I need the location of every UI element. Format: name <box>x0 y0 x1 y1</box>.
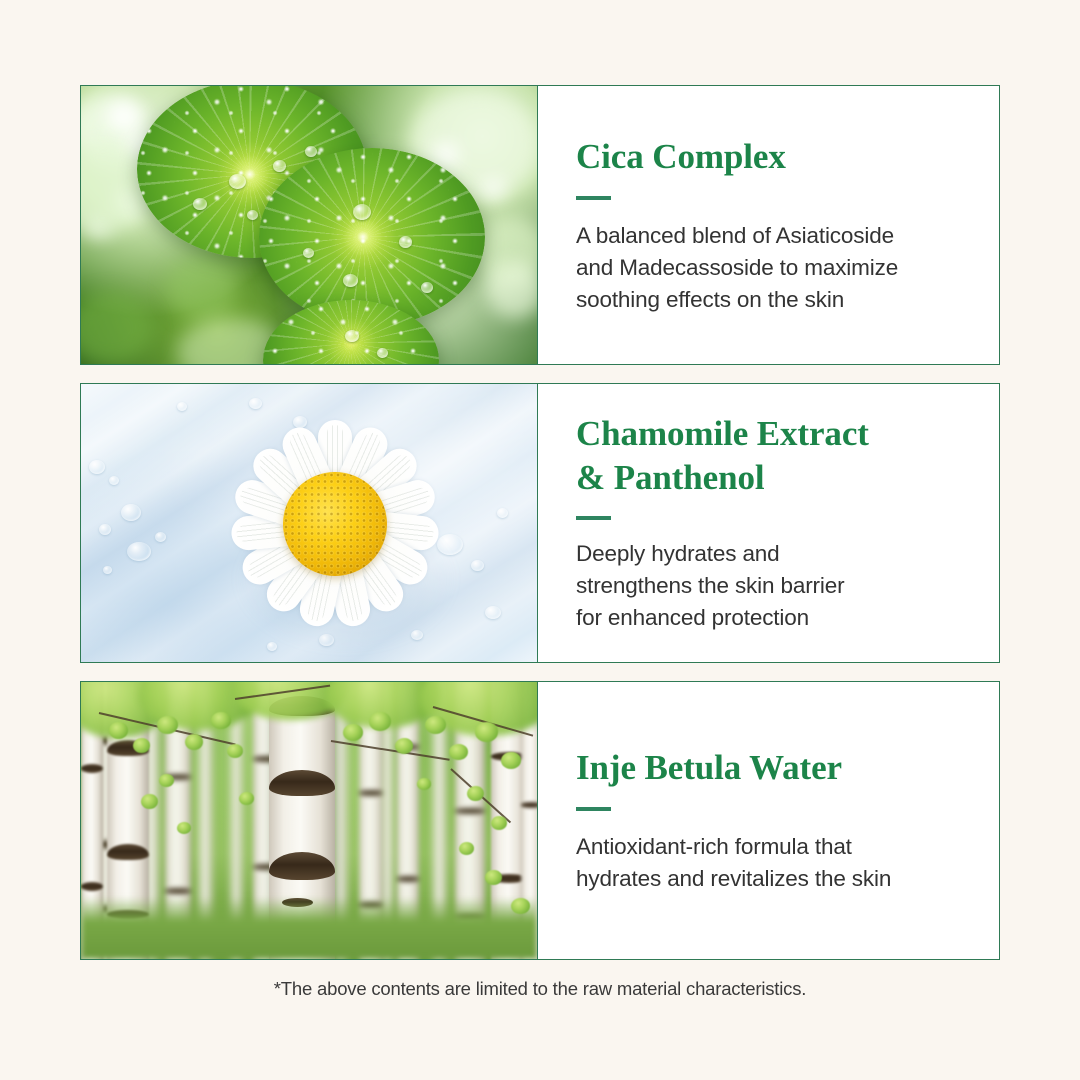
birch-leaf <box>177 822 191 834</box>
birch-leaf <box>343 724 363 741</box>
gel-bubble <box>103 566 112 574</box>
bark-mark <box>455 808 485 814</box>
gel-bubble <box>127 542 151 561</box>
centella-leaf <box>259 148 485 326</box>
title-underline-accent <box>576 516 611 520</box>
gel-bubble <box>89 460 105 474</box>
water-droplets <box>259 148 485 326</box>
birch-leaf <box>141 794 158 809</box>
birch-leaf <box>501 752 521 769</box>
gel-bubble <box>471 560 484 571</box>
gel-bubble <box>99 524 111 535</box>
bark-mark <box>81 764 103 773</box>
disclaimer-footnote: *The above contents are limited to the r… <box>0 978 1080 1000</box>
birch-leaf <box>159 774 174 787</box>
birch-leaf <box>467 786 484 801</box>
gel-bubble <box>485 606 501 619</box>
birch-leaf <box>211 712 231 729</box>
water-droplet <box>343 274 358 287</box>
birch-leaf <box>395 738 413 754</box>
ingredient-title: Cica Complex <box>576 135 973 179</box>
card-text-panel: Inje Betula Water Antioxidant-rich formu… <box>538 682 999 959</box>
birch-leaf <box>185 734 203 750</box>
bark-mark <box>269 770 335 796</box>
bark-mark <box>81 882 103 891</box>
birch-leaf <box>491 816 507 830</box>
birch-leaf <box>227 744 243 758</box>
chamomile-gel-image <box>81 384 538 662</box>
birch-leaf <box>109 722 128 739</box>
water-droplet <box>229 174 246 189</box>
ingredient-title: Chamomile Extract & Panthenol <box>576 412 973 500</box>
water-droplet <box>399 236 412 248</box>
ingredient-card-inje-betula-water: Inje Betula Water Antioxidant-rich formu… <box>80 681 1000 960</box>
flower-center-disc <box>283 472 387 576</box>
water-droplet <box>305 146 317 157</box>
gel-bubble <box>121 504 141 521</box>
birch-leaf <box>449 744 468 760</box>
water-droplet <box>193 198 207 210</box>
bokeh-highlight <box>107 100 141 132</box>
bark-mark <box>397 876 419 882</box>
water-droplet <box>303 248 314 258</box>
birch-leaf <box>511 898 530 914</box>
birch-leaf <box>157 716 178 734</box>
bark-mark <box>269 852 335 880</box>
water-droplet <box>377 348 388 358</box>
ingredient-card-chamomile-panthenol: Chamomile Extract & Panthenol Deeply hyd… <box>80 383 1000 663</box>
birch-leaf <box>133 738 150 753</box>
ingredient-title: Inje Betula Water <box>576 746 973 790</box>
gel-bubble <box>497 508 508 518</box>
birch-leaf <box>369 712 391 731</box>
ingredient-card-cica-complex: Cica Complex A balanced blend of Asiatic… <box>80 85 1000 365</box>
birch-leaf <box>425 716 446 734</box>
title-underline-accent <box>576 196 611 200</box>
card-text-panel: Cica Complex A balanced blend of Asiatic… <box>538 86 999 364</box>
birch-leaf <box>475 722 498 742</box>
water-droplet <box>353 204 371 220</box>
ingredient-feature-page: Cica Complex A balanced blend of Asiatic… <box>0 0 1080 1080</box>
gel-bubble <box>109 476 119 485</box>
gel-bubble <box>155 532 166 542</box>
water-droplet <box>345 330 359 342</box>
forest-floor <box>81 897 537 959</box>
centella-leaves-image <box>81 86 538 364</box>
water-droplet <box>273 160 286 172</box>
birch-leaf <box>239 792 254 805</box>
card-text-panel: Chamomile Extract & Panthenol Deeply hyd… <box>538 384 999 662</box>
bokeh-highlight <box>483 178 505 199</box>
ingredient-description: A balanced blend of Asiaticoside and Mad… <box>576 220 973 316</box>
bark-mark <box>107 844 149 860</box>
ingredient-description: Deeply hydrates and strengthens the skin… <box>576 538 973 634</box>
gel-bubble <box>177 402 187 411</box>
bark-mark <box>165 888 191 894</box>
birch-leaf <box>459 842 474 855</box>
bark-mark <box>521 802 538 808</box>
bokeh-highlight <box>485 262 538 318</box>
birch-leaf <box>417 778 431 790</box>
bokeh-highlight <box>167 258 237 320</box>
birch-forest-image <box>81 682 538 959</box>
chamomile-flower <box>209 398 461 650</box>
water-droplet <box>421 282 433 293</box>
title-underline-accent <box>576 807 611 811</box>
birch-leaf <box>485 870 502 885</box>
bark-mark <box>359 790 383 796</box>
ingredient-description: Antioxidant-rich formula that hydrates a… <box>576 831 973 895</box>
water-droplet <box>247 210 258 220</box>
